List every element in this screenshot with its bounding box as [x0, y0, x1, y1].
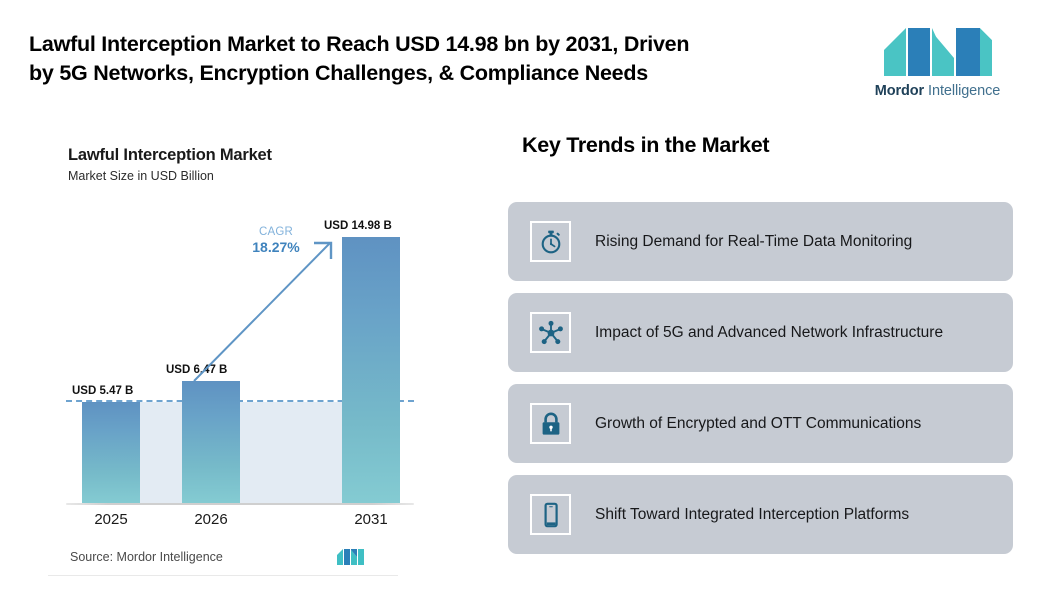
chart-subtitle: Market Size in USD Billion [68, 169, 214, 183]
mordor-m-logo-icon [882, 28, 994, 78]
trend-card[interactable]: Shift Toward Integrated Interception Pla… [508, 475, 1013, 554]
x-axis-line [66, 503, 414, 505]
trend-label: Impact of 5G and Advanced Network Infras… [595, 322, 943, 344]
brand-word-bold: Mordor [875, 83, 924, 99]
smartphone-icon [530, 494, 571, 535]
trends-heading: Key Trends in the Market [522, 133, 769, 158]
network-hub-icon [530, 312, 571, 353]
trends-card-list: Rising Demand for Real-Time Data Monitor… [508, 202, 1013, 566]
trend-label: Shift Toward Integrated Interception Pla… [595, 504, 909, 526]
trend-label: Rising Demand for Real-Time Data Monitor… [595, 231, 912, 253]
panel-divider [48, 575, 398, 576]
bar-chart-plot: USD 5.47 B USD 6.47 B USD 14.98 B CAGR 1… [66, 203, 414, 503]
chart-panel: Lawful Interception Market Market Size i… [40, 118, 440, 573]
mordor-m-mark-icon [336, 548, 366, 566]
chart-title: Lawful Interception Market [68, 146, 272, 165]
x-axis-ticks: 2025 2026 2031 [66, 511, 414, 537]
page-title: Lawful Interception Market to Reach USD … [29, 30, 839, 88]
growth-arrow-icon [66, 203, 414, 503]
brand-wordmark: Mordor Intelligence [875, 83, 1000, 99]
x-tick-2031: 2031 [336, 511, 406, 528]
slide-root: Lawful Interception Market to Reach USD … [0, 0, 1043, 593]
brand-logo: Mordor Intelligence [865, 28, 1010, 106]
chart-source-text: Source: Mordor Intelligence [70, 550, 223, 564]
trend-card[interactable]: Rising Demand for Real-Time Data Monitor… [508, 202, 1013, 281]
x-tick-2025: 2025 [76, 511, 146, 528]
brand-word-light: Intelligence [928, 83, 1000, 99]
stopwatch-icon [530, 221, 571, 262]
x-tick-2026: 2026 [176, 511, 246, 528]
trend-card[interactable]: Impact of 5G and Advanced Network Infras… [508, 293, 1013, 372]
padlock-icon [530, 403, 571, 444]
chart-source-row: Source: Mordor Intelligence [66, 548, 414, 570]
trend-card[interactable]: Growth of Encrypted and OTT Communicatio… [508, 384, 1013, 463]
trend-label: Growth of Encrypted and OTT Communicatio… [595, 413, 921, 435]
